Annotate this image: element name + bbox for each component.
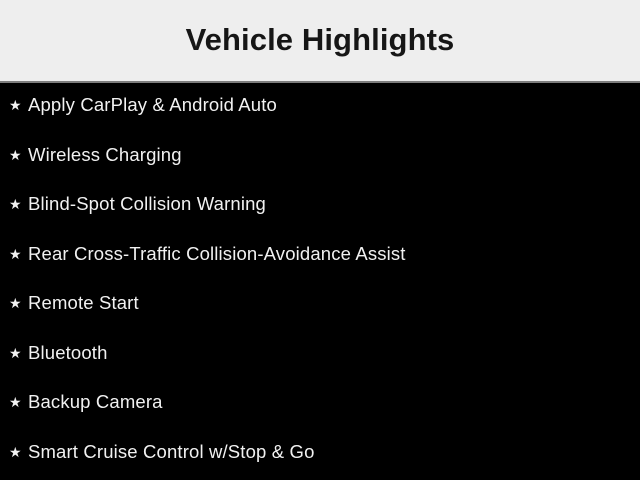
list-item: ★Remote Start bbox=[9, 290, 139, 316]
star-icon: ★ bbox=[9, 98, 28, 112]
list-item-label: Smart Cruise Control w/Stop & Go bbox=[28, 439, 315, 465]
star-icon: ★ bbox=[9, 197, 28, 211]
star-icon: ★ bbox=[9, 247, 28, 261]
list-item-label: Backup Camera bbox=[28, 389, 163, 415]
star-icon: ★ bbox=[9, 296, 28, 310]
list-item-label: Blind-Spot Collision Warning bbox=[28, 191, 266, 217]
star-icon: ★ bbox=[9, 148, 28, 162]
list-item: ★Blind-Spot Collision Warning bbox=[9, 191, 266, 217]
list-item: ★Backup Camera bbox=[9, 389, 163, 415]
vehicle-highlights-list: ★Apply CarPlay & Android Auto★Wireless C… bbox=[0, 83, 640, 480]
star-icon: ★ bbox=[9, 445, 28, 459]
list-item: ★Smart Cruise Control w/Stop & Go bbox=[9, 439, 315, 465]
star-icon: ★ bbox=[9, 346, 28, 360]
list-item: ★Wireless Charging bbox=[9, 142, 182, 168]
vehicle-highlights-page: Vehicle Highlights ★Apply CarPlay & Andr… bbox=[0, 0, 640, 480]
page-header: Vehicle Highlights bbox=[0, 0, 640, 81]
list-item-label: Rear Cross-Traffic Collision-Avoidance A… bbox=[28, 241, 406, 267]
list-item: ★Apply CarPlay & Android Auto bbox=[9, 92, 277, 118]
list-item-label: Remote Start bbox=[28, 290, 139, 316]
list-item-label: Apply CarPlay & Android Auto bbox=[28, 92, 277, 118]
list-item-label: Wireless Charging bbox=[28, 142, 182, 168]
page-title: Vehicle Highlights bbox=[0, 21, 640, 59]
star-icon: ★ bbox=[9, 395, 28, 409]
list-item-label: Bluetooth bbox=[28, 340, 108, 366]
list-item: ★Rear Cross-Traffic Collision-Avoidance … bbox=[9, 241, 406, 267]
list-item: ★Bluetooth bbox=[9, 340, 108, 366]
